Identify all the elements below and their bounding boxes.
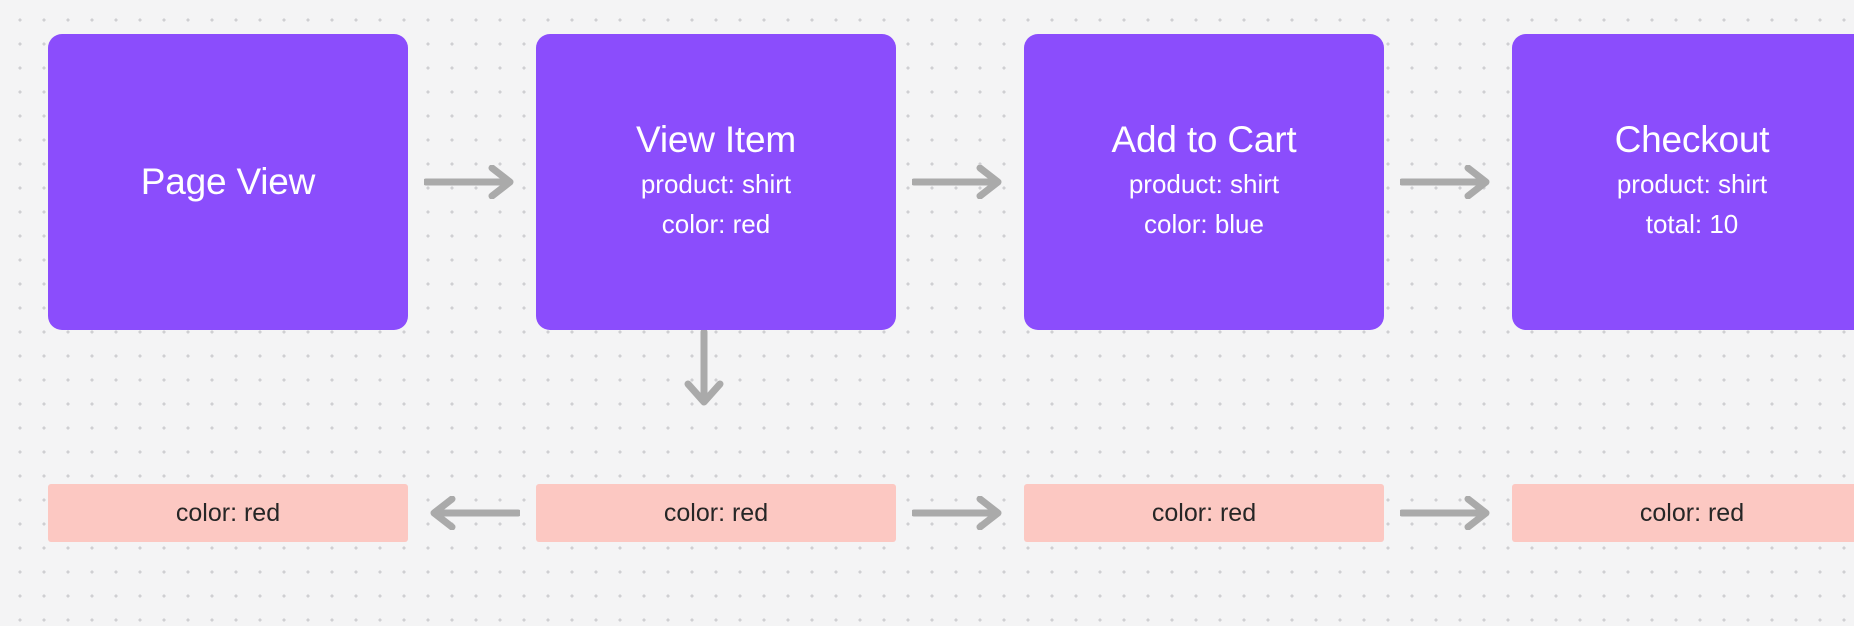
connector-add-to-cart-to-checkout <box>1384 34 1512 330</box>
flow-diagram-canvas: Page View View Item product: shirt color… <box>0 0 1854 626</box>
event-node-title: Page View <box>141 162 315 202</box>
event-node-property: color: blue <box>1144 204 1264 244</box>
event-node-row: Page View View Item product: shirt color… <box>0 34 1854 330</box>
arrow-right-icon <box>1400 496 1496 530</box>
property-node-1[interactable]: color: red <box>48 484 408 542</box>
event-node-title: View Item <box>636 120 796 160</box>
row-left-padding <box>0 34 48 330</box>
property-node-2[interactable]: color: red <box>536 484 896 542</box>
property-node-row: color: red color: red color: red <box>0 484 1854 542</box>
connector-property-3-to-property-4 <box>1384 484 1512 542</box>
arrow-right-icon <box>424 165 520 199</box>
arrow-right-icon <box>1400 165 1496 199</box>
event-node-add-to-cart[interactable]: Add to Cart product: shirt color: blue <box>1024 34 1384 330</box>
arrow-right-icon <box>912 165 1008 199</box>
connector-view-item-to-add-to-cart <box>896 34 1024 330</box>
event-node-view-item[interactable]: View Item product: shirt color: red <box>536 34 896 330</box>
arrow-left-icon <box>424 496 520 530</box>
connector-property-2-to-property-3 <box>896 484 1024 542</box>
event-node-property: product: shirt <box>1617 164 1767 204</box>
event-node-title: Add to Cart <box>1112 120 1297 160</box>
connector-property-2-to-property-1 <box>408 484 536 542</box>
event-node-property: product: shirt <box>641 164 791 204</box>
event-node-property: product: shirt <box>1129 164 1279 204</box>
event-node-title: Checkout <box>1615 120 1770 160</box>
row-left-padding <box>0 484 48 542</box>
event-node-checkout[interactable]: Checkout product: shirt total: 10 <box>1512 34 1854 330</box>
arrow-right-icon <box>912 496 1008 530</box>
event-node-property: total: 10 <box>1646 204 1739 244</box>
property-node-3[interactable]: color: red <box>1024 484 1384 542</box>
event-node-page-view[interactable]: Page View <box>48 34 408 330</box>
event-node-property: color: red <box>662 204 770 244</box>
property-node-4[interactable]: color: red <box>1512 484 1854 542</box>
arrow-down-icon <box>672 330 736 414</box>
connector-page-view-to-view-item <box>408 34 536 330</box>
